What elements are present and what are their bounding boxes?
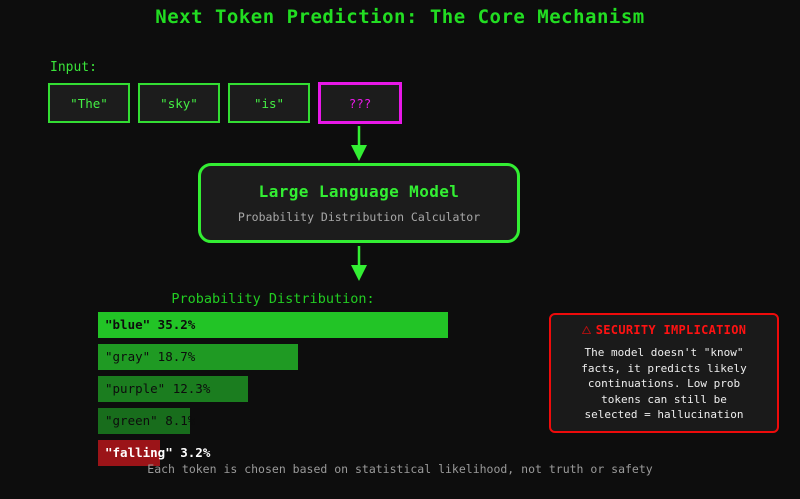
distribution-header: Probability Distribution: xyxy=(98,291,448,307)
security-implication-callout: SECURITY IMPLICATION The model doesn't "… xyxy=(549,313,779,433)
probability-bar-chart: "blue" 35.2% "gray" 18.7% "purple" 12.3%… xyxy=(98,312,458,472)
token-box-unknown[interactable]: ??? xyxy=(318,82,402,124)
warning-triangle-icon xyxy=(582,326,591,334)
llm-subtitle: Probability Distribution Calculator xyxy=(238,210,480,224)
security-body: The model doesn't "know" facts, it predi… xyxy=(551,345,777,423)
security-title-row: SECURITY IMPLICATION xyxy=(551,323,777,337)
token-box[interactable]: "The" xyxy=(48,83,130,123)
bar-label: "purple" 12.3% xyxy=(105,376,210,402)
page-title: Next Token Prediction: The Core Mechanis… xyxy=(0,6,800,28)
token-label: "The" xyxy=(70,96,108,111)
arrow-down-icon-input-to-model xyxy=(347,126,371,162)
token-box[interactable]: "is" xyxy=(228,83,310,123)
bar-row[interactable]: "gray" 18.7% xyxy=(98,344,458,370)
bar-row[interactable]: "purple" 12.3% xyxy=(98,376,458,402)
input-label: Input: xyxy=(50,60,97,75)
bar-label: "gray" 18.7% xyxy=(105,344,195,370)
security-title: SECURITY IMPLICATION xyxy=(596,323,747,337)
footer-caption: Each token is chosen based on statistica… xyxy=(0,462,800,476)
token-box[interactable]: "sky" xyxy=(138,83,220,123)
bar-label: "blue" 35.2% xyxy=(105,312,195,338)
bar-label: "green" 8.1% xyxy=(105,408,195,434)
input-token-row: "The" "sky" "is" ??? xyxy=(48,83,402,124)
token-label: "is" xyxy=(254,96,284,111)
token-label: ??? xyxy=(349,96,372,111)
arrow-down-icon-model-to-distribution xyxy=(347,246,371,282)
bar-row[interactable]: "green" 8.1% xyxy=(98,408,458,434)
llm-title: Large Language Model xyxy=(259,182,460,201)
bar-row[interactable]: "blue" 35.2% xyxy=(98,312,458,338)
diagram-canvas: Next Token Prediction: The Core Mechanis… xyxy=(0,0,800,499)
token-label: "sky" xyxy=(160,96,198,111)
llm-node[interactable]: Large Language Model Probability Distrib… xyxy=(198,163,520,243)
